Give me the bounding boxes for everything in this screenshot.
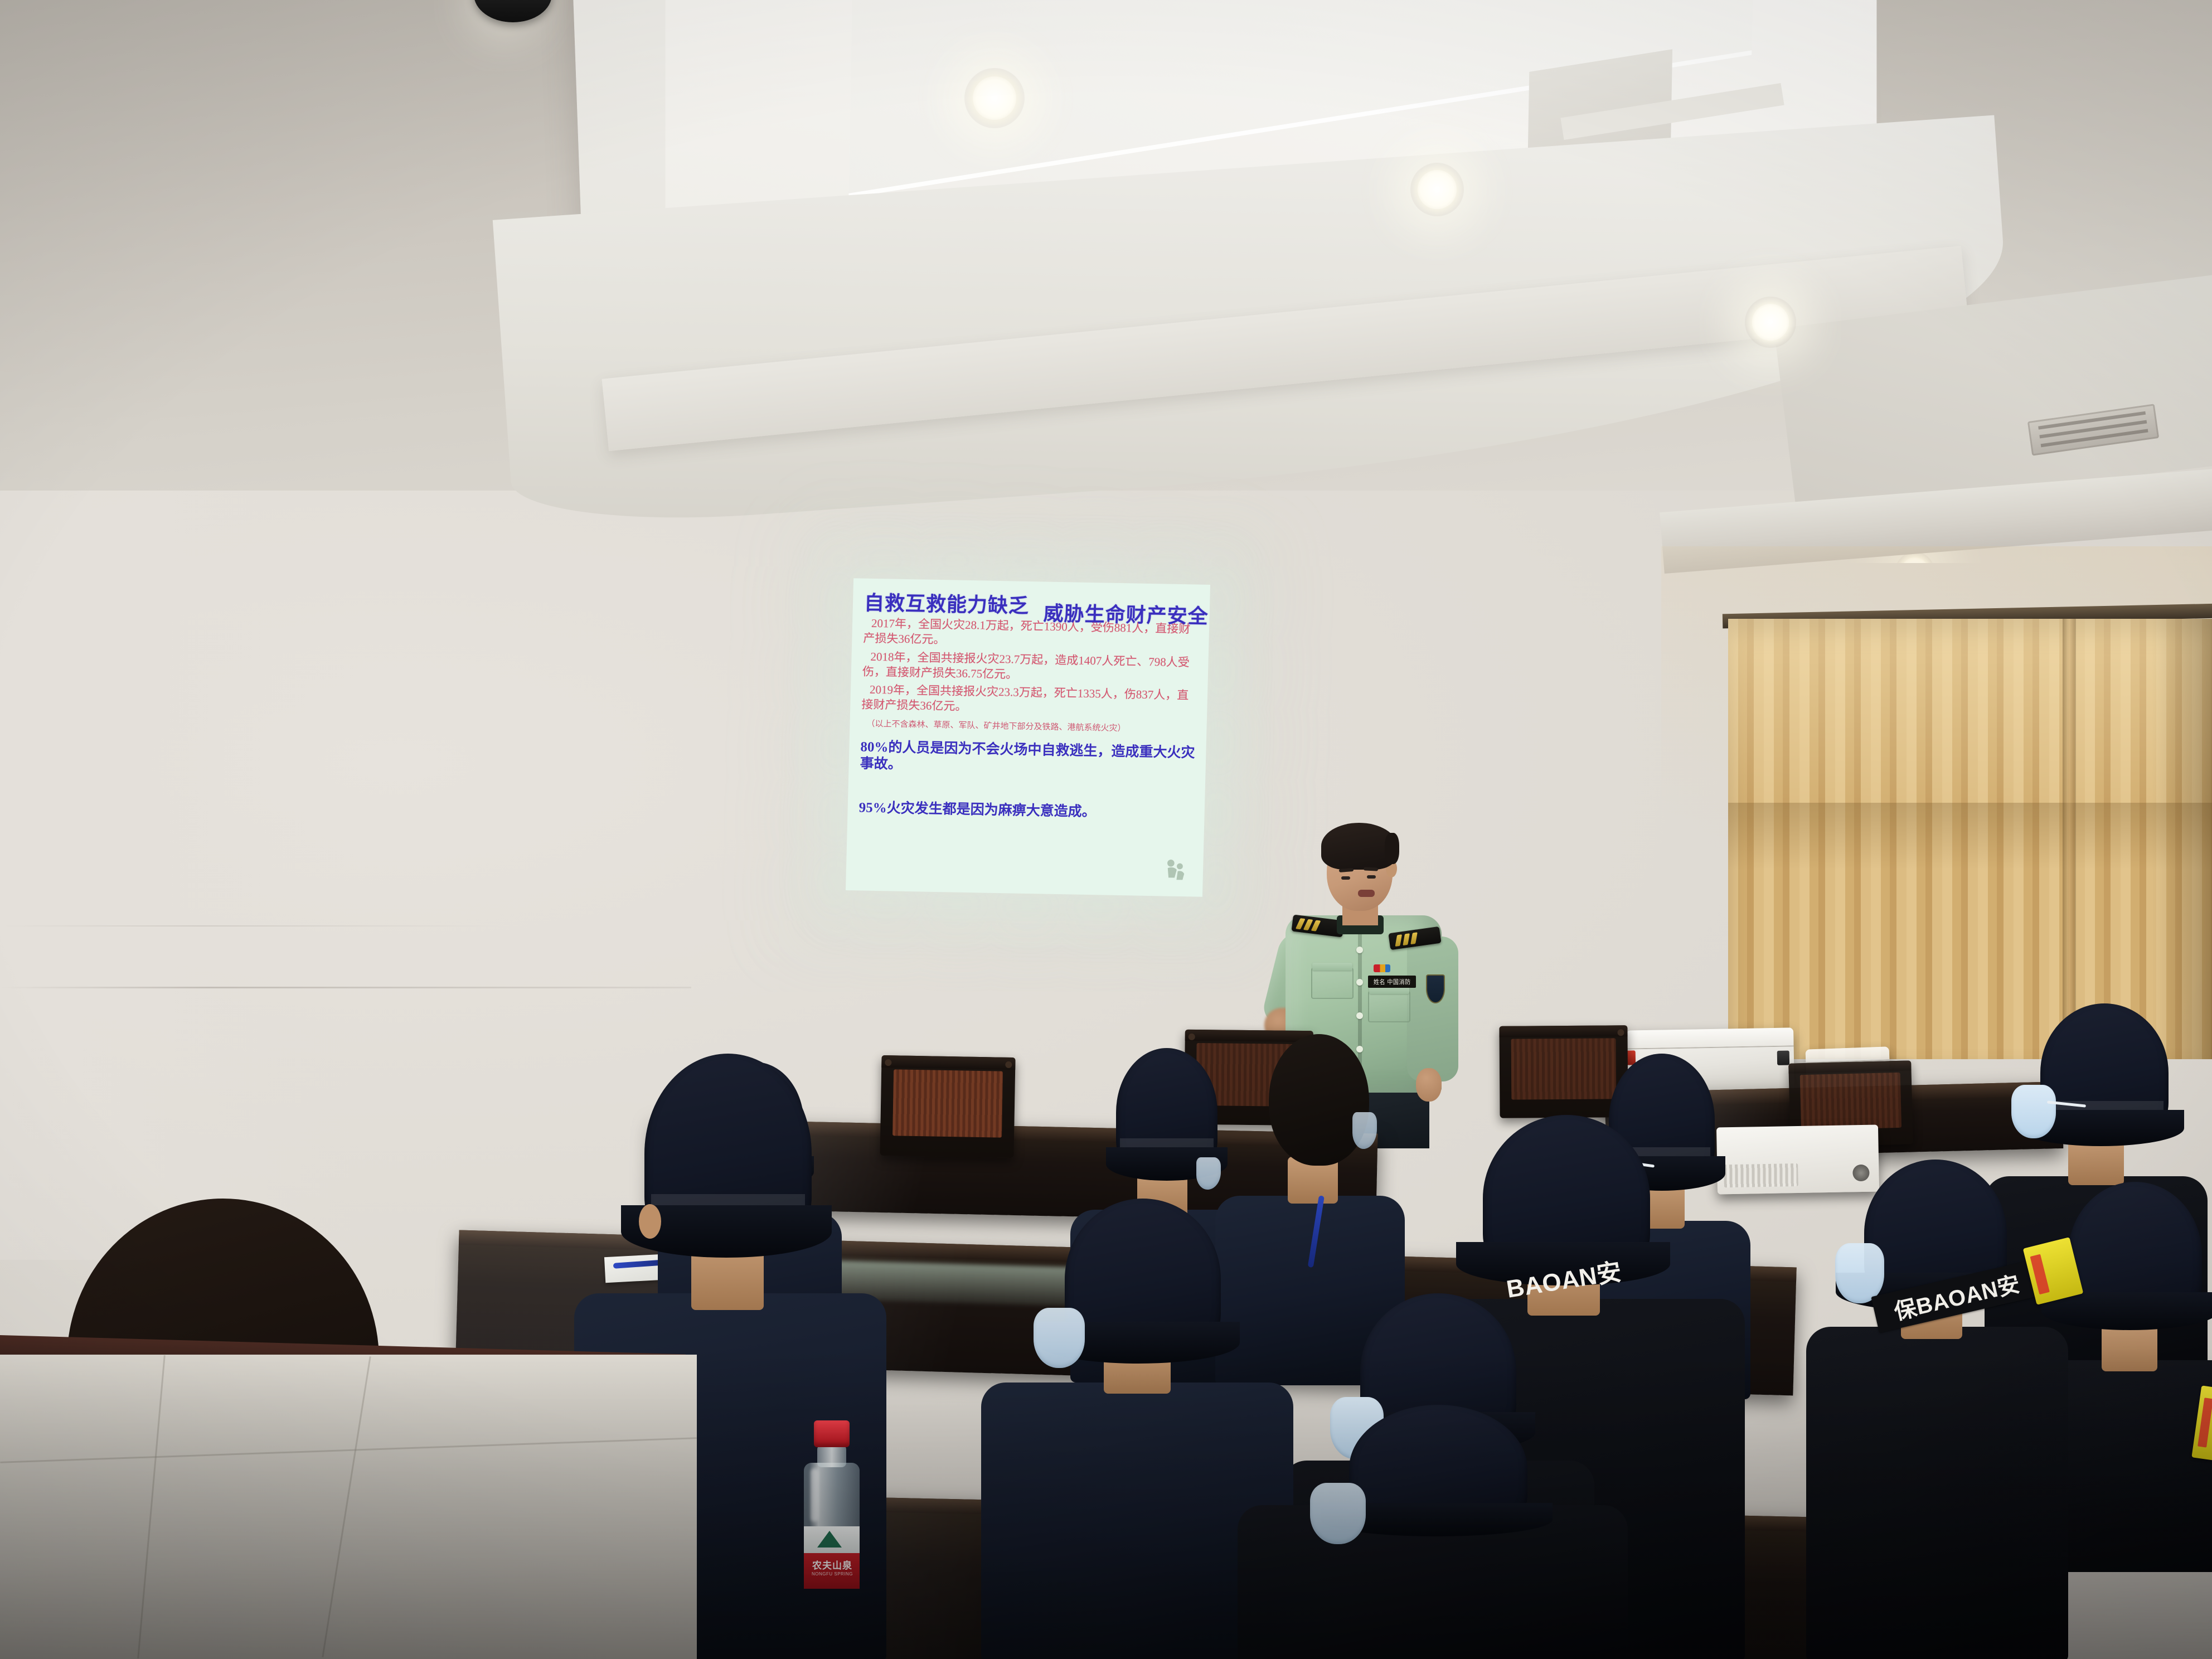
slide-paragraph-2018: 2018年，全国共接报火灾23.7万起，造成1407人死亡、798人受伤，直接财…: [862, 649, 1200, 686]
audience-face-mask: [2011, 1085, 2056, 1138]
audience-cap: [1349, 1405, 1527, 1533]
curtain-highlight: [1728, 619, 2212, 819]
chair-rear-1[interactable]: [880, 1055, 1015, 1158]
slide-footnote: （以上不含森林、草原、军队、矿井地下部分及铁路、港航系统火灾）: [861, 719, 1197, 735]
projection-screen[interactable]: 自救互救能力缺乏威胁生命财产安全 2017年，全国火灾28.1万起，死亡1390…: [846, 578, 1210, 897]
slide-paragraph-2019: 2019年，全国共接报火灾23.3万起，死亡1335人，伤837人，直接财产损失…: [861, 682, 1199, 719]
audience-cap: [2040, 1003, 2169, 1143]
presenter-button: [1356, 1012, 1363, 1019]
slide-body: 2017年，全国火灾28.1万起，死亡1390人，受伤881人，直接财产损失36…: [858, 616, 1200, 823]
curtain-seam: [2063, 619, 2076, 1059]
audience-cap: [1065, 1199, 1221, 1360]
presenter-name-tag-text: 姓名 中国消防: [1374, 977, 1411, 986]
audience-head: [1269, 1034, 1369, 1166]
floor-tile-line: [0, 1437, 696, 1463]
presenter-right-hand: [1416, 1068, 1442, 1102]
presenter-shoulder-patch-icon: [1426, 974, 1445, 1003]
chair-pad: [1800, 1073, 1902, 1130]
presenter-button: [1356, 947, 1363, 953]
case-latch-icon: [1777, 1051, 1789, 1065]
slide-title-left: 自救互救能力缺乏: [864, 592, 1030, 617]
audience-cap: [644, 1054, 812, 1254]
chair-rail: [1499, 1025, 1627, 1037]
bottle-mountain-logo-icon: [817, 1531, 842, 1548]
classroom-scene: 自救互救能力缺乏威胁生命财产安全 2017年，全国火灾28.1万起，死亡1390…: [0, 0, 2212, 1659]
slide-title-right: 威胁生命财产安全: [1043, 603, 1209, 626]
audience-face-mask: [1034, 1308, 1085, 1368]
presenter-left-pocket: [1311, 968, 1354, 999]
curtain-edge-shadow: [2152, 619, 2212, 1059]
slide-highlight-80: 80%的人员是因为不会火场中自救逃生，造成重大火灾事故。: [860, 739, 1197, 779]
presenter-mouth: [1358, 890, 1375, 897]
wall-seam: [0, 987, 691, 988]
downlight-icon: [1745, 297, 1796, 348]
presenter-name-tag: 姓名 中国消防: [1368, 976, 1416, 988]
chair-knob: [1189, 1034, 1195, 1040]
presenter-eye: [1367, 875, 1376, 879]
water-bottle[interactable]: 农夫山泉 NONGFU SPRING: [798, 1420, 866, 1588]
presenter-right-pocket: [1368, 991, 1410, 1022]
audience-ear: [639, 1204, 661, 1239]
chair-rail: [881, 1055, 1015, 1070]
audience-face-mask: [1352, 1112, 1377, 1149]
presenter-eyebrow: [1364, 867, 1378, 871]
bottle-brand-text: 农夫山泉 NONGFU SPRING: [798, 1558, 866, 1576]
bottle-highlight: [811, 1468, 818, 1522]
audience-cap: [2068, 1182, 2202, 1327]
floor: [0, 1355, 697, 1659]
slide-content: 自救互救能力缺乏威胁生命财产安全 2017年，全国火灾28.1万起，死亡1390…: [846, 578, 1210, 897]
presenter-flag-badge-icon: [1374, 964, 1390, 972]
chair-pad: [892, 1069, 1003, 1137]
floor-tile-line: [137, 1355, 166, 1658]
slide-highlight-95: 95%火灾发生都是因为麻痹大意造成。: [858, 799, 1196, 823]
bottle-brand-latin: NONGFU SPRING: [798, 1571, 866, 1576]
window-curtain[interactable]: [1728, 619, 2212, 1059]
audience-jacket: [1806, 1327, 2068, 1659]
downlight-icon: [1410, 163, 1464, 216]
wall-seam-secondary: [0, 925, 502, 926]
slide-watermark-icon: [1160, 856, 1191, 886]
slide-title: 自救互救能力缺乏威胁生命财产安全: [864, 593, 1201, 619]
bottle-cap: [814, 1420, 850, 1447]
downlight-icon: [964, 68, 1025, 128]
presenter-button: [1356, 979, 1363, 986]
floor-tile-line: [322, 1356, 371, 1657]
case-lid: [1626, 1027, 1794, 1049]
bottle-brand-cn: 农夫山泉: [812, 1560, 852, 1571]
presenter-eye: [1341, 876, 1350, 880]
audience-member-baoan-front[interactable]: 保BAOAN安: [1806, 1160, 2068, 1659]
audience-member-foreground-center[interactable]: [1238, 1405, 1628, 1659]
presenter-hair: [1321, 823, 1397, 870]
curtain-shadow-band: [1728, 803, 2212, 870]
presenter-right-sleeve: [1407, 937, 1458, 1081]
audience-face-mask: [1310, 1483, 1366, 1544]
audience-face-mask: [1835, 1243, 1884, 1303]
bottle-neck: [817, 1445, 846, 1467]
chair-knob: [1617, 1029, 1624, 1036]
ceiling: [0, 0, 2212, 563]
